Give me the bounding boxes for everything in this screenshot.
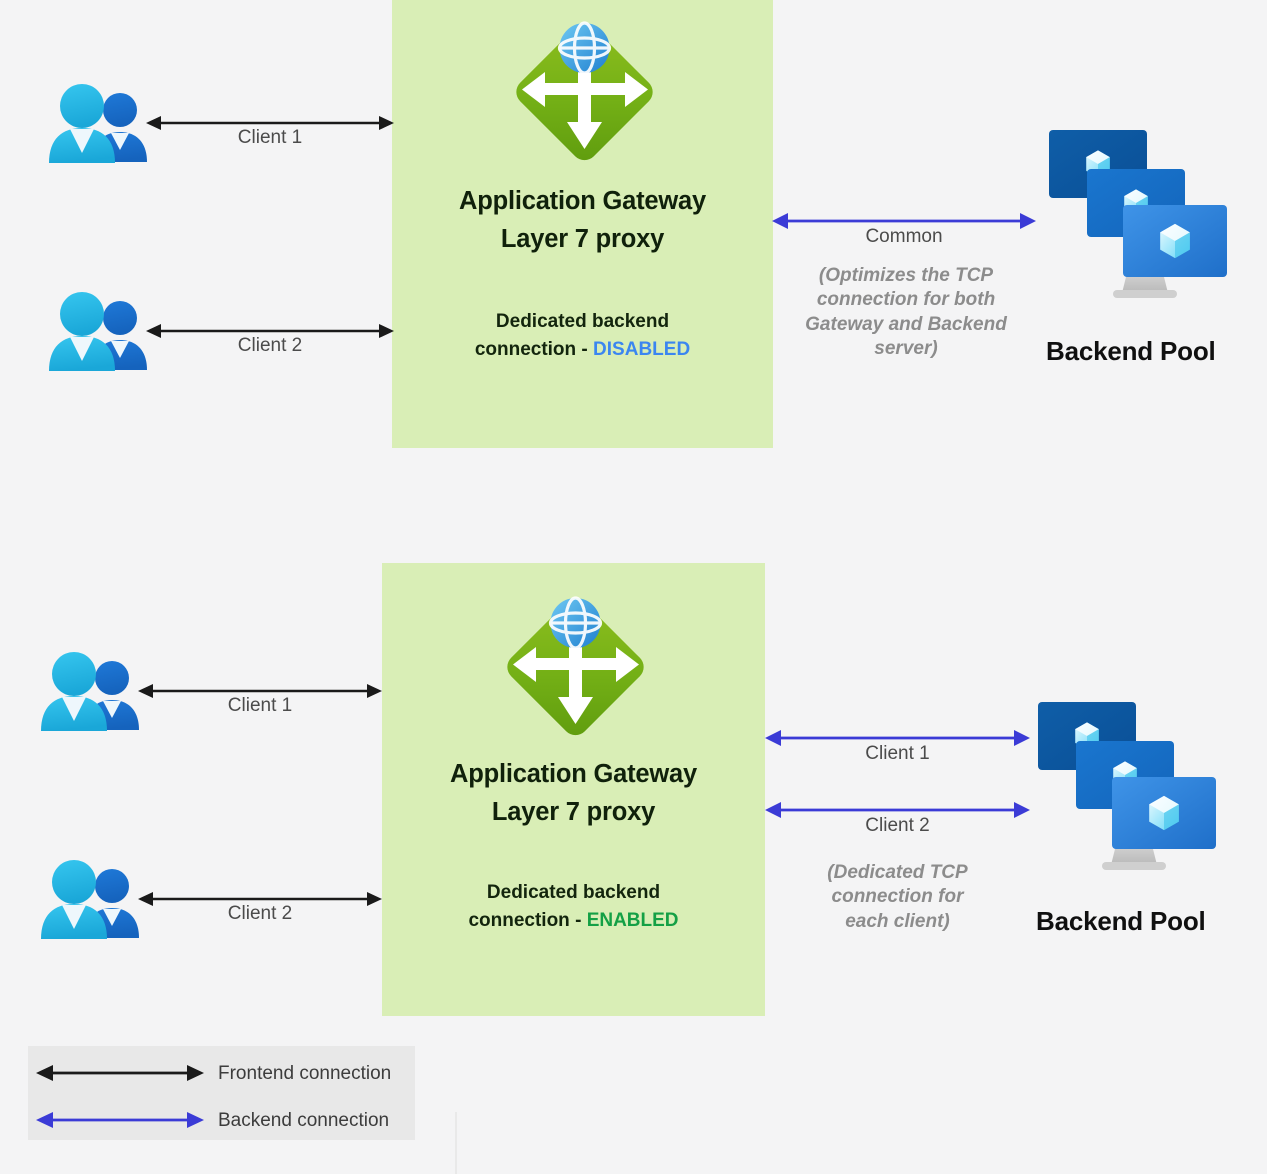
gateway-title-line2: Layer 7 proxy [382,797,765,827]
backend-connection-label-common: Common [772,226,1036,248]
gateway-state-badge: DISABLED [593,339,690,360]
canvas-seam-vertical [455,1112,457,1174]
double-arrow-icon [36,1111,204,1129]
application-gateway-icon [497,10,672,175]
backend-note-line-3: each client) [765,910,1030,934]
client-1-users-icon [48,84,152,164]
backend-pool-icon-top [1047,125,1237,320]
client-1-users-icon [40,652,144,732]
legend-item-frontend: Frontend connection [28,1054,415,1101]
application-gateway-icon [488,585,663,750]
gateway-panel-disabled: Application Gateway Layer 7 proxy Dedica… [392,0,773,448]
backend-note-line-3: Gateway and Backend [772,313,1040,337]
frontend-connection-label-client-1-top: Client 1 [146,127,394,149]
gateway-subtitle-prefix: connection - [468,910,586,931]
backend-note-enabled: (Dedicated TCP connection for each clien… [765,861,1030,934]
backend-note-line-1: (Dedicated TCP [765,861,1030,885]
client-2-users-icon [48,292,152,372]
backend-note-line-4: server) [772,337,1040,361]
gateway-title-line1: Application Gateway [392,186,773,216]
gateway-panel-enabled: Application Gateway Layer 7 proxy Dedica… [382,563,765,1016]
gateway-subtitle-line2: connection - DISABLED [392,337,773,364]
backend-note-line-2: connection for both [772,288,1040,312]
backend-pool-label-top: Backend Pool [1046,336,1216,367]
legend: Frontend connection Backend connection [28,1046,415,1140]
legend-label-backend: Backend connection [218,1110,389,1132]
legend-item-backend: Backend connection [28,1101,415,1148]
backend-note-line-1: (Optimizes the TCP [772,264,1040,288]
gateway-subtitle-line1: Dedicated backend [392,309,773,336]
gateway-subtitle-prefix: connection - [475,339,593,360]
gateway-subtitle-line2: connection - ENABLED [382,908,765,935]
frontend-connection-label-client-1-bottom: Client 1 [138,695,382,717]
frontend-connection-label-client-2-bottom: Client 2 [138,903,382,925]
gateway-subtitle-line1: Dedicated backend [382,880,765,907]
backend-note-line-2: connection for [765,885,1030,909]
legend-label-frontend: Frontend connection [218,1063,391,1085]
client-2-users-icon [40,860,144,940]
double-arrow-icon [36,1064,204,1082]
frontend-connection-label-client-2-top: Client 2 [146,335,394,357]
backend-note-disabled: (Optimizes the TCP connection for both G… [772,264,1040,361]
gateway-title-line2: Layer 7 proxy [392,224,773,254]
backend-pool-label-bottom: Backend Pool [1036,906,1206,937]
backend-connection-label-client-1: Client 1 [765,743,1030,765]
gateway-state-badge: ENABLED [587,910,679,931]
diagram-canvas: Application Gateway Layer 7 proxy Dedica… [0,0,1267,1174]
backend-pool-icon-bottom [1036,697,1226,892]
backend-connection-label-client-2: Client 2 [765,815,1030,837]
gateway-title-line1: Application Gateway [382,759,765,789]
